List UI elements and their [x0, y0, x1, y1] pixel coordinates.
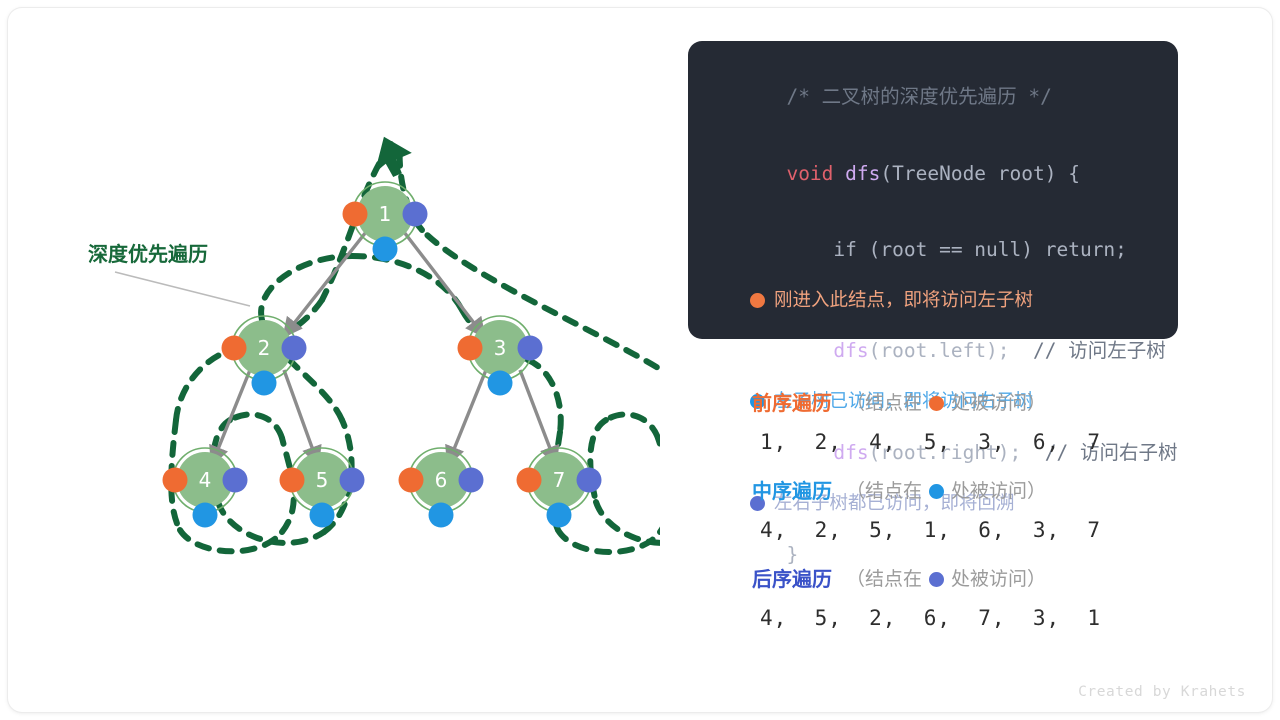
- keyword-void: void: [786, 162, 833, 185]
- post-order-dot: [282, 336, 307, 361]
- tree-label: 深度优先遍历: [88, 238, 208, 267]
- node-label-2: 2: [258, 336, 271, 360]
- tree-node-3[interactable]: 3: [458, 316, 543, 396]
- inorder-sequence: 4, 2, 5, 1, 6, 3, 7: [760, 518, 1172, 542]
- post-order-dot: [459, 468, 484, 493]
- pre-order-dot: [222, 336, 247, 361]
- inorder-note-before: （结点在: [846, 474, 922, 508]
- node-label-6: 6: [435, 468, 448, 492]
- tree-node-1[interactable]: 1: [343, 182, 428, 262]
- tree-node-2[interactable]: 2: [222, 316, 307, 396]
- fn-dfs-left: dfs: [833, 339, 868, 362]
- in-order-dot: [488, 371, 513, 396]
- in-order-dot: [929, 484, 944, 499]
- postorder-title: 后序遍历: [752, 562, 832, 596]
- preorder-note: （结点在 处被访问）: [846, 386, 1046, 420]
- fn-dfs: dfs: [833, 162, 880, 185]
- postorder-note: （结点在 处被访问）: [846, 562, 1046, 596]
- node-label-3: 3: [494, 336, 507, 360]
- in-order-dot: [193, 503, 218, 528]
- inorder-note-after: 处被访问）: [951, 474, 1046, 508]
- pre-order-dot: [929, 396, 944, 411]
- inorder-heading: 中序遍历 （结点在 处被访问）: [752, 474, 1172, 508]
- preorder-title: 前序遍历: [752, 386, 832, 420]
- stage: 1 2 3: [0, 0, 1280, 720]
- pre-order-dot: [163, 468, 188, 493]
- code-signature: void dfs(TreeNode root) {: [716, 135, 1154, 211]
- comment-text: /* 二叉树的深度优先遍历 */: [786, 85, 1051, 108]
- pre-order-dot: [750, 293, 765, 308]
- inorder-note: （结点在 处被访问）: [846, 474, 1046, 508]
- post-order-dot: [929, 572, 944, 587]
- code-block: /* 二叉树的深度优先遍历 */ void dfs(TreeNode root)…: [688, 41, 1178, 339]
- pre-order-dot: [517, 468, 542, 493]
- node-label-7: 7: [553, 468, 566, 492]
- node-label-5: 5: [316, 468, 329, 492]
- post-order-dot: [577, 468, 602, 493]
- tree-nodes: 1 2 3: [163, 182, 602, 528]
- binary-tree-diagram: 1 2 3: [60, 120, 660, 560]
- in-order-dot: [547, 503, 572, 528]
- post-order-dot: [403, 202, 428, 227]
- postorder-note-before: （结点在: [846, 562, 922, 596]
- in-order-dot: [310, 503, 335, 528]
- preorder-heading: 前序遍历 （结点在 处被访问）: [752, 386, 1172, 420]
- code-if-null: if (root == null) return;: [716, 211, 1154, 287]
- dfs-left-rest: (root.left);: [869, 339, 1010, 362]
- pre-order-dot: [280, 468, 305, 493]
- label-leader-line: [115, 272, 250, 306]
- annotation-preorder: 刚进入此结点，即将访问左子树: [716, 288, 1154, 313]
- annotation-preorder-text: 刚进入此结点，即将访问左子树: [774, 288, 1033, 313]
- node-label-4: 4: [199, 468, 212, 492]
- credit-text: Created by Krahets: [1078, 684, 1246, 700]
- pre-order-dot: [399, 468, 424, 493]
- traversal-results: 前序遍历 （结点在 处被访问） 1, 2, 4, 5, 3, 6, 7 中序遍历…: [752, 386, 1172, 650]
- edge-1-2: [284, 232, 366, 336]
- in-order-dot: [373, 237, 398, 262]
- signature-rest: (TreeNode root) {: [880, 162, 1080, 185]
- in-order-dot: [429, 503, 454, 528]
- postorder-note-after: 处被访问）: [951, 562, 1046, 596]
- pre-order-dot: [343, 202, 368, 227]
- node-label-1: 1: [379, 202, 392, 226]
- code-comment-header: /* 二叉树的深度优先遍历 */: [716, 59, 1154, 135]
- in-order-dot: [252, 371, 277, 396]
- if-null-text: if (root == null) return;: [786, 238, 1126, 261]
- preorder-note-after: 处被访问）: [951, 386, 1046, 420]
- postorder-sequence: 4, 5, 2, 6, 7, 3, 1: [760, 606, 1172, 630]
- tree-node-6[interactable]: 6: [399, 448, 484, 528]
- inorder-title: 中序遍历: [752, 474, 832, 508]
- comment-left: // 访问左子树: [1010, 339, 1166, 362]
- post-order-dot: [223, 468, 248, 493]
- post-order-dot: [340, 468, 365, 493]
- postorder-heading: 后序遍历 （结点在 处被访问）: [752, 562, 1172, 596]
- preorder-sequence: 1, 2, 4, 5, 3, 6, 7: [760, 430, 1172, 454]
- code-dfs-left: dfs(root.left); // 访问左子树: [716, 313, 1154, 389]
- pre-order-dot: [458, 336, 483, 361]
- preorder-note-before: （结点在: [846, 386, 922, 420]
- post-order-dot: [518, 336, 543, 361]
